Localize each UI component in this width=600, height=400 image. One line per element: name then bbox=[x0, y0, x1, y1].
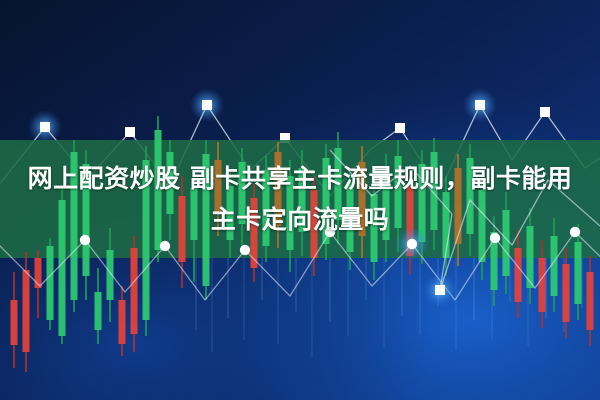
candle-body bbox=[479, 190, 486, 262]
candlestick bbox=[47, 238, 54, 330]
zigzag-marker-circle bbox=[407, 239, 417, 249]
zigzag-marker-square bbox=[475, 100, 485, 110]
candle-body bbox=[191, 188, 198, 240]
candle-body bbox=[395, 156, 402, 228]
candle-body bbox=[467, 158, 474, 234]
zigzag-marker-square bbox=[202, 100, 212, 110]
zigzag-marker-square bbox=[40, 122, 50, 132]
candle-body bbox=[47, 246, 54, 320]
candle-body bbox=[131, 248, 138, 334]
candlestick bbox=[155, 116, 162, 262]
candle-body bbox=[155, 130, 162, 250]
zigzag-marker-square bbox=[395, 123, 405, 133]
thumbnail-image: 网上配资炒股 副卡共享主卡流量规则，副卡能用 主卡定向流量吗 bbox=[0, 0, 600, 400]
candle-body bbox=[587, 272, 594, 330]
candle-body bbox=[227, 186, 234, 240]
candle-body bbox=[539, 258, 546, 312]
candle-body bbox=[179, 196, 186, 262]
candle-body bbox=[575, 242, 582, 304]
candle-body bbox=[563, 264, 570, 322]
candlestick bbox=[251, 184, 258, 282]
candle-body bbox=[119, 300, 126, 344]
candle-body bbox=[311, 190, 318, 258]
zigzag-marker-square bbox=[125, 127, 135, 137]
candle-body bbox=[95, 292, 102, 330]
candle-body bbox=[359, 162, 366, 236]
candlestick bbox=[203, 140, 210, 300]
zigzag-marker-circle bbox=[240, 245, 250, 255]
zigzag-marker-square bbox=[435, 285, 445, 295]
zigzag-marker-circle bbox=[160, 241, 170, 251]
candle-body bbox=[203, 154, 210, 286]
candle-body bbox=[455, 168, 462, 244]
candle-body bbox=[383, 170, 390, 240]
zigzag-marker-square bbox=[540, 107, 550, 117]
candle-body bbox=[215, 160, 222, 212]
candle-body bbox=[515, 248, 522, 302]
candle-body bbox=[143, 160, 150, 320]
candle-body bbox=[347, 182, 354, 252]
candle-body bbox=[299, 168, 306, 232]
candle-body bbox=[167, 152, 174, 214]
zigzag-marker-circle bbox=[80, 235, 90, 245]
candle-body bbox=[287, 176, 294, 250]
market-background-artwork bbox=[0, 0, 600, 400]
candle-body bbox=[23, 270, 30, 352]
candle-body bbox=[239, 162, 246, 224]
candle-body bbox=[59, 200, 66, 336]
zigzag-marker-circle bbox=[490, 233, 500, 243]
candlestick bbox=[143, 146, 150, 336]
candle-body bbox=[503, 210, 510, 276]
candle-body bbox=[275, 152, 282, 226]
candle-body bbox=[263, 170, 270, 246]
candle-body bbox=[11, 300, 18, 345]
candle-body bbox=[371, 194, 378, 262]
candlestick bbox=[71, 140, 78, 312]
candle-body bbox=[551, 236, 558, 296]
zigzag-marker-circle bbox=[325, 227, 335, 237]
candle-body bbox=[83, 164, 90, 276]
zigzag-marker-circle bbox=[570, 227, 580, 237]
candle-body bbox=[71, 152, 78, 300]
